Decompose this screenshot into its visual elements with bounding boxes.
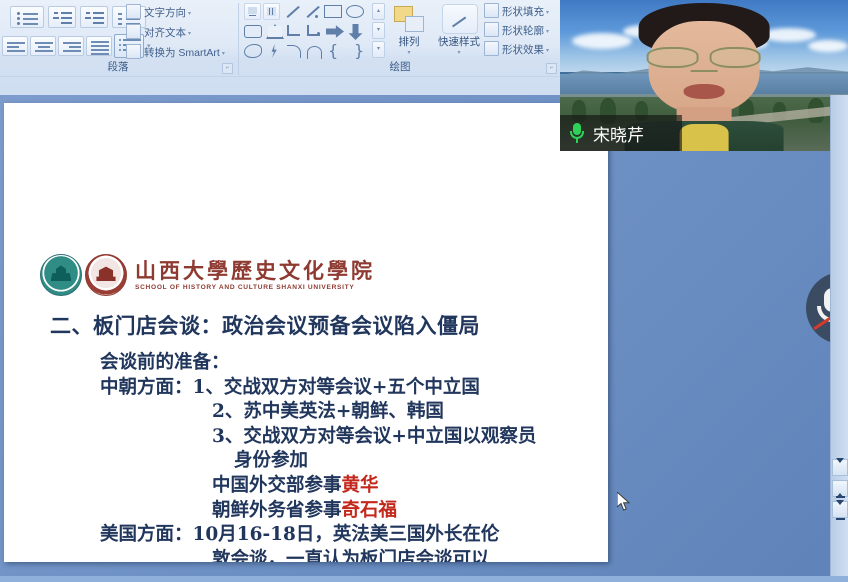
body-line-text: 中朝方面：1、交战双方对等会议+五个中立国 bbox=[100, 377, 480, 398]
body-line-text: 身份参加 bbox=[234, 450, 308, 471]
body-line: 中国外交部参事黄华 bbox=[212, 474, 600, 499]
participant-name-tag: 宋晓芹 bbox=[560, 115, 682, 151]
align-center-button[interactable] bbox=[30, 36, 56, 56]
shapes-gallery-more[interactable]: ▾ bbox=[372, 41, 385, 58]
body-line: 敦会谈，一直认为板门店会谈可以 bbox=[212, 548, 600, 562]
quick-styles-button[interactable]: 快速样式▾ bbox=[434, 34, 484, 56]
shape-outline-icon bbox=[484, 22, 499, 37]
body-line: 中朝方面：1、交战双方对等会议+五个中立国 bbox=[100, 376, 600, 401]
bullets-button[interactable] bbox=[10, 6, 44, 28]
body-line-highlight: 奇石福 bbox=[342, 500, 398, 521]
convert-to-smartart-label: 转换为 SmartArt bbox=[144, 47, 220, 59]
ribbon-divider bbox=[238, 3, 239, 75]
align-text-button[interactable]: 对齐文本▾ bbox=[144, 25, 191, 40]
convert-to-smartart-button[interactable]: 转换为 SmartArt▾ bbox=[144, 45, 225, 60]
slide-canvas[interactable]: 山西大學歷史文化學院 SCHOOL OF HISTORY AND CULTURE… bbox=[4, 103, 608, 562]
glasses-icon bbox=[647, 47, 761, 63]
slide-editing-area[interactable]: 山西大學歷史文化學院 SCHOOL OF HISTORY AND CULTURE… bbox=[0, 95, 848, 582]
participant-mouth bbox=[683, 84, 724, 99]
quick-styles-label: 快速样式 bbox=[438, 36, 480, 48]
body-line: 2、苏中美英法+朝鲜、韩国 bbox=[212, 400, 600, 425]
participant-name-label: 宋晓芹 bbox=[593, 121, 644, 146]
shape-vertical-text-box-icon[interactable] bbox=[263, 3, 280, 20]
shape-triangle-icon[interactable] bbox=[266, 24, 284, 39]
align-right-button[interactable] bbox=[58, 36, 84, 56]
next-slide-button[interactable] bbox=[832, 501, 848, 518]
shapes-gallery-scroll-down[interactable]: ▾ bbox=[372, 22, 385, 39]
align-text-icon bbox=[126, 24, 141, 39]
shape-effects-button[interactable]: 形状效果▾ bbox=[502, 42, 549, 57]
body-line-text: 敦会谈，一直认为板门店会谈可以 bbox=[212, 549, 490, 562]
shape-right-arrow-icon[interactable] bbox=[326, 24, 344, 39]
scroll-down-button[interactable] bbox=[832, 459, 848, 476]
glasses-bridge bbox=[690, 70, 718, 72]
group-label-paragraph: 段落 bbox=[0, 59, 236, 75]
body-line-text: 美国方面：10月16-18日，英法美三国外长在伦 bbox=[100, 524, 499, 545]
body-line: 朝鲜外务省参事奇石福 bbox=[212, 499, 600, 524]
shape-arrow-icon[interactable] bbox=[304, 4, 319, 19]
history-culture-school-emblem bbox=[85, 254, 127, 296]
shape-effects-label: 形状效果 bbox=[502, 44, 544, 56]
logo-english-name: SCHOOL OF HISTORY AND CULTURE SHANXI UNI… bbox=[135, 284, 375, 291]
participant-video-tile[interactable]: 宋晓芹 bbox=[560, 0, 848, 151]
bottom-strip bbox=[0, 576, 848, 582]
shapes-gallery-scroll-up[interactable]: ▴ bbox=[372, 3, 385, 20]
ribbon-group-band bbox=[0, 76, 560, 77]
shape-left-brace-icon[interactable]: { bbox=[328, 43, 338, 59]
shape-curve-icon[interactable] bbox=[286, 44, 302, 58]
body-line-text: 会谈前的准备： bbox=[100, 352, 230, 373]
arrange-label: 排列 bbox=[399, 36, 420, 48]
logo-chinese-name: 山西大學歷史文化學院 bbox=[135, 260, 375, 282]
shape-outline-button[interactable]: 形状轮廓▾ bbox=[502, 23, 549, 38]
slide-body[interactable]: 会谈前的准备： 中朝方面：1、交战双方对等会议+五个中立国 2、苏中美英法+朝鲜… bbox=[100, 351, 600, 562]
shape-fill-label: 形状填充 bbox=[502, 6, 544, 18]
group-label-drawing: 绘图 bbox=[240, 59, 560, 75]
body-line-text: 3、交战双方对等会议+中立国以观察员 bbox=[212, 426, 536, 447]
shape-lightning-icon[interactable] bbox=[266, 44, 282, 58]
convert-to-smartart-icon bbox=[126, 44, 141, 59]
shape-text-box-icon[interactable] bbox=[244, 3, 261, 20]
shape-outline-label: 形状轮廓 bbox=[502, 25, 544, 37]
shape-cloud-icon[interactable] bbox=[244, 44, 262, 58]
shape-effects-icon bbox=[484, 41, 499, 56]
shape-elbow-connector-icon[interactable] bbox=[286, 24, 302, 39]
ribbon: ▾ 文字方向▾ 对齐文本▾ 转换为 SmartArt▾ 段落 ⌐ bbox=[0, 0, 560, 95]
body-line: 3、交战双方对等会议+中立国以观察员 bbox=[212, 425, 600, 450]
vertical-scrollbar[interactable] bbox=[830, 95, 848, 582]
shape-arc-icon[interactable] bbox=[306, 44, 322, 58]
body-line-highlight: 黄华 bbox=[342, 475, 379, 496]
shape-fill-button[interactable]: 形状填充▾ bbox=[502, 4, 549, 19]
logo-text: 山西大學歷史文化學院 SCHOOL OF HISTORY AND CULTURE… bbox=[135, 260, 375, 291]
body-line-text: 朝鲜外务省参事 bbox=[212, 500, 342, 521]
ribbon-group-drawing: { } ▴ ▾ ▾ 排列▾ 快速样式▾ 形状填充▾ 形状轮廓▾ 形状效果▾ 绘图… bbox=[240, 0, 560, 77]
slide-title[interactable]: 二、板门店会谈：政治会议预备会议陷入僵局 bbox=[50, 310, 480, 340]
increase-indent-button[interactable] bbox=[80, 6, 108, 28]
body-line-text: 中国外交部参事 bbox=[212, 475, 342, 496]
shanxi-university-emblem bbox=[40, 254, 82, 296]
shape-rectangle-icon[interactable] bbox=[324, 5, 342, 18]
body-line: 美国方面：10月16-18日，英法美三国外长在伦 bbox=[100, 523, 600, 548]
decrease-indent-button[interactable] bbox=[48, 6, 76, 28]
body-line: 会谈前的准备： bbox=[100, 351, 600, 376]
drawing-dialog-launcher[interactable]: ⌐ bbox=[546, 63, 557, 74]
arrange-button[interactable]: 排列▾ bbox=[386, 34, 432, 56]
body-line-text: 2、苏中美英法+朝鲜、韩国 bbox=[212, 401, 444, 422]
justify-button[interactable] bbox=[86, 36, 112, 56]
align-left-button[interactable] bbox=[2, 36, 28, 56]
body-line: 身份参加 bbox=[234, 449, 600, 474]
shape-line-icon[interactable] bbox=[284, 4, 299, 19]
text-direction-icon bbox=[126, 4, 141, 19]
quick-styles-icon bbox=[442, 4, 478, 34]
shape-down-arrow-icon[interactable] bbox=[348, 24, 363, 40]
arrange-icon bbox=[392, 4, 426, 32]
participant-scarf bbox=[680, 124, 728, 151]
shape-elbow-arrow-icon[interactable] bbox=[306, 24, 322, 39]
shape-fill-icon bbox=[484, 3, 499, 18]
paragraph-dialog-launcher[interactable]: ⌐ bbox=[222, 63, 233, 74]
shape-rounded-rectangle-icon[interactable] bbox=[244, 25, 262, 38]
text-direction-label: 文字方向 bbox=[144, 7, 186, 19]
microphone-icon[interactable] bbox=[568, 122, 586, 144]
text-direction-button[interactable]: 文字方向▾ bbox=[144, 5, 191, 20]
shape-right-brace-icon[interactable]: } bbox=[354, 43, 364, 59]
previous-slide-button[interactable] bbox=[832, 480, 848, 497]
shape-ellipse-icon[interactable] bbox=[346, 5, 364, 18]
university-logo: 山西大學歷史文化學院 SCHOOL OF HISTORY AND CULTURE… bbox=[40, 253, 375, 297]
align-text-label: 对齐文本 bbox=[144, 27, 186, 39]
mouse-pointer-icon bbox=[617, 492, 630, 511]
